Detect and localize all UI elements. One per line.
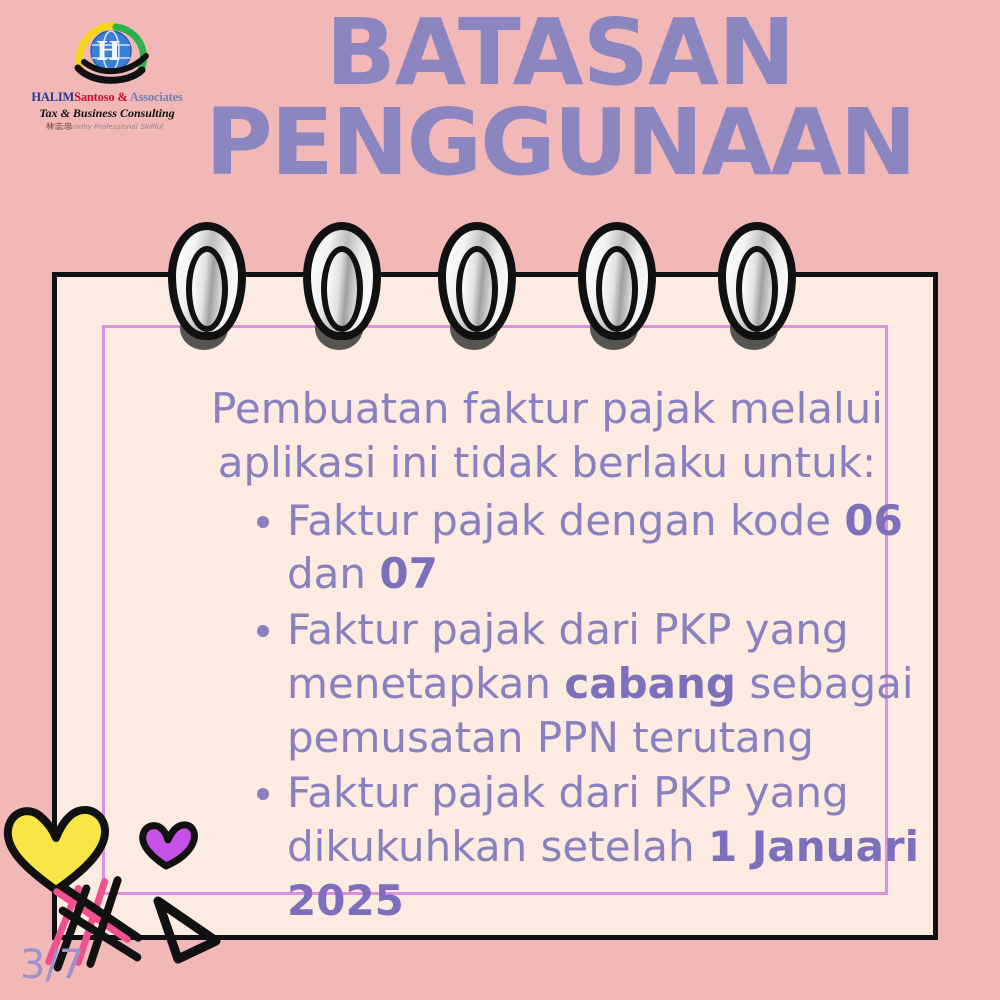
restriction-list: Faktur pajak dengan kode 06 dan 07 Faktu…: [167, 494, 927, 928]
page-title-line-1: BATASAN: [120, 8, 1000, 98]
spiral-ring-4: [578, 222, 656, 352]
spiral-ring-2: [303, 222, 381, 352]
ring-wire-inner-icon: [596, 246, 638, 332]
spiral-ring-3: [438, 222, 516, 352]
page-title-line-2: PENGGUNAAN: [120, 98, 1000, 188]
spiral-ring-5: [718, 222, 796, 352]
list-item: Faktur pajak dari PKP yang dikukuhkan se…: [253, 766, 927, 927]
ring-wire-inner-icon: [456, 246, 498, 332]
purple-heart-icon: [136, 818, 198, 870]
ring-wire-inner-icon: [321, 246, 363, 332]
poster-canvas: H HALIMSantoso & Associates Tax & Busine…: [0, 0, 1000, 1000]
list-item: Faktur pajak dari PKP yang menetapkan ca…: [253, 603, 927, 764]
ring-wire-inner-icon: [736, 246, 778, 332]
page-title: BATASAN PENGGUNAAN: [120, 8, 1000, 188]
spiral-ring-1: [168, 222, 246, 352]
triangle-arrow-icon: [150, 895, 222, 965]
intro-paragraph: Pembuatan faktur pajak melalui aplikasi …: [167, 382, 927, 490]
list-item: Faktur pajak dengan kode 06 dan 07: [253, 494, 927, 602]
logo-name-santoso: Santoso: [74, 90, 114, 104]
ring-wire-inner-icon: [186, 246, 228, 332]
logo-name-halim: HALIM: [31, 90, 74, 104]
card-body-text: Pembuatan faktur pajak melalui aplikasi …: [167, 382, 927, 930]
svg-text:H: H: [96, 37, 121, 67]
page-indicator: 3/7: [20, 942, 84, 988]
